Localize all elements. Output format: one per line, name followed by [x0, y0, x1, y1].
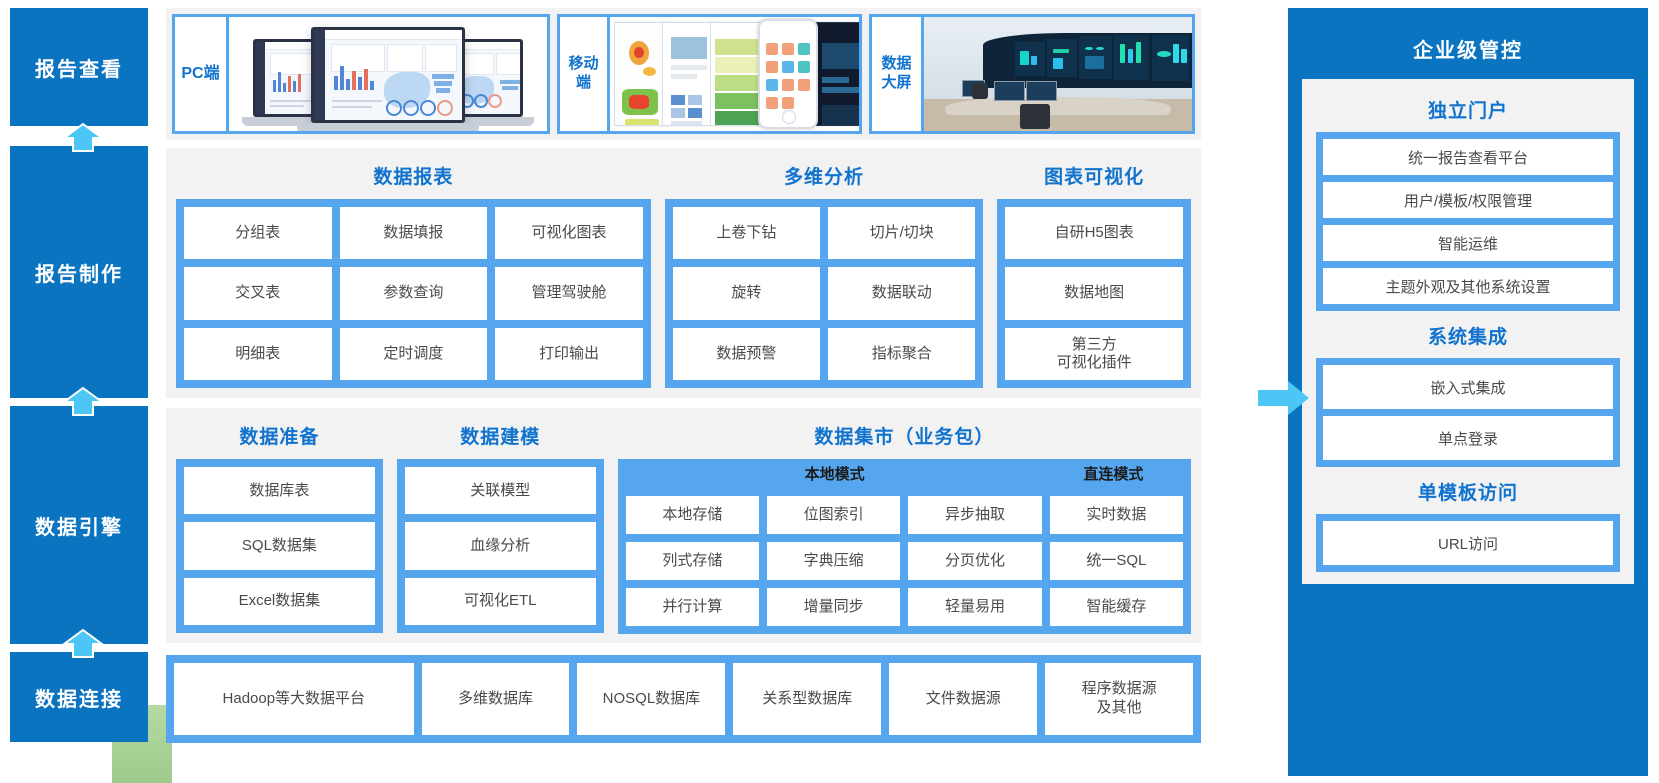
group-chart-visualization: 图表可视化 自研H5图表 数据地图 第三方 可视化插件 [997, 156, 1191, 388]
group-title: 图表可视化 [997, 162, 1191, 189]
group-title: 数据准备 [176, 422, 383, 449]
feature-cell[interactable]: 分组表 [184, 207, 332, 259]
group-title: 多维分析 [665, 162, 984, 189]
mart-column: 本地存储 列式存储 并行计算 [626, 496, 759, 626]
feature-cell[interactable]: 智能缓存 [1050, 588, 1183, 626]
panel-title: 企业级管控 [1302, 8, 1634, 79]
connection-cell[interactable]: Hadoop等大数据平台 [174, 663, 414, 735]
connection-cell[interactable]: NOSQL数据库 [577, 663, 725, 735]
feature-cell[interactable]: SQL数据集 [184, 522, 375, 569]
group-single-template-access: 单模板访问 URL访问 [1316, 467, 1620, 572]
feature-cell[interactable]: 交叉表 [184, 267, 332, 319]
group-multidim-analysis: 多维分析 上卷下钻 切片/切块 旋转 数据联动 数据预警 指标聚合 [665, 156, 984, 388]
pc-dashboard-illustration [229, 17, 547, 131]
cell-row: 数据地图 [1005, 267, 1183, 319]
stage-column: 报告查看 报告制作 数据引擎 数据连接 [10, 0, 148, 783]
cell-row: 上卷下钻 切片/切块 [673, 207, 976, 259]
feature-cell[interactable]: 管理驾驶舱 [495, 267, 643, 319]
group-data-modeling: 数据建模 关联模型 血缘分析 可视化ETL [397, 416, 604, 633]
channel-big-screen[interactable]: 数据 大屏 [869, 14, 1195, 134]
feature-cell[interactable]: 统一SQL [1050, 542, 1183, 580]
feature-cell[interactable]: 可视化ETL [405, 578, 596, 625]
control-room-illustration [924, 17, 1192, 131]
feature-cell[interactable]: 字典压缩 [767, 542, 900, 580]
stage-report-view[interactable]: 报告查看 [10, 8, 148, 126]
group-body: 本地模式 直连模式 本地存储 列式存储 并行计算 位图索引 字典压缩 增量同步 [618, 459, 1191, 634]
feature-cell[interactable]: 数据填报 [340, 207, 488, 259]
mart-body: 本地存储 列式存储 并行计算 位图索引 字典压缩 增量同步 异步抽取 分页优化 [626, 496, 1183, 626]
panel-inner: 独立门户 统一报告查看平台 用户/模板/权限管理 智能运维 主题外观及其他系统设… [1302, 79, 1634, 584]
channel-row: PC端 [166, 8, 1201, 140]
mart-mode-direct: 直连模式 [1044, 463, 1183, 484]
channel-label-pc: PC端 [175, 17, 229, 131]
stage-label: 数据连接 [35, 683, 123, 712]
mobile-screens-illustration [610, 17, 859, 131]
feature-cell[interactable]: 主题外观及其他系统设置 [1323, 268, 1613, 304]
stage-report-make[interactable]: 报告制作 [10, 146, 148, 398]
feature-cell[interactable]: 旋转 [673, 267, 820, 319]
cell-row: 明细表 定时调度 打印输出 [184, 328, 643, 380]
stage-label: 数据引擎 [35, 511, 123, 540]
feature-cell[interactable]: 关联模型 [405, 467, 596, 514]
connection-cell[interactable]: 多维数据库 [422, 663, 570, 735]
group-title: 数据报表 [176, 162, 651, 189]
cell-row: 交叉表 参数查询 管理驾驶舱 [184, 267, 643, 319]
mart-column: 位图索引 字典压缩 增量同步 [767, 496, 900, 626]
channel-pc[interactable]: PC端 [172, 14, 550, 134]
cell-row: SQL数据集 [184, 522, 375, 569]
feature-cell[interactable]: 数据地图 [1005, 267, 1183, 319]
cell-row: 数据库表 [184, 467, 375, 514]
group-body: 数据库表 SQL数据集 Excel数据集 [176, 459, 383, 633]
cell-row: 第三方 可视化插件 [1005, 328, 1183, 380]
feature-cell[interactable]: 上卷下钻 [673, 207, 820, 259]
group-data-mart: 数据集市（业务包） 本地模式 直连模式 本地存储 列式存储 并行计算 位图索引 [618, 416, 1191, 633]
up-arrow-icon-3 [62, 628, 104, 658]
group-data-preparation: 数据准备 数据库表 SQL数据集 Excel数据集 [176, 416, 383, 633]
group-body: 上卷下钻 切片/切块 旋转 数据联动 数据预警 指标聚合 [665, 199, 984, 388]
group-system-integration: 系统集成 嵌入式集成 单点登录 [1316, 311, 1620, 467]
report-production-row: 数据报表 分组表 数据填报 可视化图表 交叉表 参数查询 管理驾驶舱 明细表 定 [166, 148, 1201, 398]
cell-row: 可视化ETL [405, 578, 596, 625]
mart-column: 异步抽取 分页优化 轻量易用 [908, 496, 1041, 626]
feature-cell[interactable]: 数据联动 [828, 267, 975, 319]
stage-data-connection[interactable]: 数据连接 [10, 652, 148, 742]
feature-cell[interactable]: 并行计算 [626, 588, 759, 626]
group-title: 数据建模 [397, 422, 604, 449]
group-body: URL访问 [1316, 514, 1620, 572]
cell-row: 数据预警 指标聚合 [673, 328, 976, 380]
stage-label: 报告查看 [35, 53, 123, 82]
feature-cell[interactable]: 智能运维 [1323, 225, 1613, 261]
data-engine-row: 数据准备 数据库表 SQL数据集 Excel数据集 数据建模 [166, 408, 1201, 643]
mart-column: 实时数据 统一SQL 智能缓存 [1050, 496, 1183, 626]
group-title: 独立门户 [1316, 85, 1620, 132]
mart-mode-local: 本地模式 [626, 463, 1044, 484]
cell-row: 分组表 数据填报 可视化图表 [184, 207, 643, 259]
cell-row: Excel数据集 [184, 578, 375, 625]
group-title: 单模板访问 [1316, 467, 1620, 514]
channel-label-big-screen: 数据 大屏 [872, 17, 924, 131]
cell-row: 血缘分析 [405, 522, 596, 569]
feature-cell[interactable]: 定时调度 [340, 328, 488, 380]
connection-cell[interactable]: 关系型数据库 [733, 663, 881, 735]
feature-cell[interactable]: 参数查询 [340, 267, 488, 319]
feature-cell[interactable]: 用户/模板/权限管理 [1323, 182, 1613, 218]
up-arrow-icon-2 [62, 386, 104, 416]
feature-cell[interactable]: 切片/切块 [828, 207, 975, 259]
feature-cell[interactable]: 实时数据 [1050, 496, 1183, 534]
group-body: 自研H5图表 数据地图 第三方 可视化插件 [997, 199, 1191, 388]
feature-cell[interactable]: 列式存储 [626, 542, 759, 580]
connection-cell[interactable]: 程序数据源 及其他 [1045, 663, 1193, 735]
feature-cell[interactable]: URL访问 [1323, 521, 1613, 565]
feature-cell[interactable]: 嵌入式集成 [1323, 365, 1613, 409]
mart-mode-headers: 本地模式 直连模式 [626, 463, 1183, 488]
cell-row: 旋转 数据联动 [673, 267, 976, 319]
feature-cell[interactable]: 本地存储 [626, 496, 759, 534]
group-title: 数据集市（业务包） [618, 422, 1191, 449]
feature-cell[interactable]: 分页优化 [908, 542, 1041, 580]
feature-cell[interactable]: 增量同步 [767, 588, 900, 626]
feature-cell[interactable]: 可视化图表 [495, 207, 643, 259]
channel-mobile[interactable]: 移动 端 [557, 14, 862, 134]
group-body: 嵌入式集成 单点登录 [1316, 358, 1620, 467]
feature-cell[interactable]: 自研H5图表 [1005, 207, 1183, 259]
feature-cell[interactable]: Excel数据集 [184, 578, 375, 625]
right-arrow-icon [1258, 380, 1310, 416]
feature-cell[interactable]: 第三方 可视化插件 [1005, 328, 1183, 380]
feature-cell[interactable]: 统一报告查看平台 [1323, 139, 1613, 175]
data-connection-row: Hadoop等大数据平台 多维数据库 NOSQL数据库 关系型数据库 文件数据源… [166, 655, 1201, 743]
group-body: 分组表 数据填报 可视化图表 交叉表 参数查询 管理驾驶舱 明细表 定时调度 打… [176, 199, 651, 388]
group-independent-portal: 独立门户 统一报告查看平台 用户/模板/权限管理 智能运维 主题外观及其他系统设… [1316, 85, 1620, 311]
group-data-report: 数据报表 分组表 数据填报 可视化图表 交叉表 参数查询 管理驾驶舱 明细表 定 [176, 156, 651, 388]
enterprise-control-panel: 企业级管控 独立门户 统一报告查看平台 用户/模板/权限管理 智能运维 主题外观… [1288, 8, 1648, 776]
up-arrow-icon-1 [62, 122, 104, 152]
feature-cell[interactable]: 指标聚合 [828, 328, 975, 380]
feature-cell[interactable]: 单点登录 [1323, 416, 1613, 460]
channel-label-mobile: 移动 端 [560, 17, 610, 131]
stage-label: 报告制作 [35, 258, 123, 287]
feature-cell[interactable]: 位图索引 [767, 496, 900, 534]
feature-cell[interactable]: 血缘分析 [405, 522, 596, 569]
feature-cell[interactable]: 数据预警 [673, 328, 820, 380]
feature-cell[interactable]: 明细表 [184, 328, 332, 380]
group-title: 系统集成 [1316, 311, 1620, 358]
feature-cell[interactable]: 轻量易用 [908, 588, 1041, 626]
feature-cell[interactable]: 数据库表 [184, 467, 375, 514]
stage-data-engine[interactable]: 数据引擎 [10, 406, 148, 644]
group-body: 统一报告查看平台 用户/模板/权限管理 智能运维 主题外观及其他系统设置 [1316, 132, 1620, 311]
main-column: PC端 [166, 0, 1206, 783]
feature-cell[interactable]: 打印输出 [495, 328, 643, 380]
feature-cell[interactable]: 异步抽取 [908, 496, 1041, 534]
group-body: 关联模型 血缘分析 可视化ETL [397, 459, 604, 633]
connection-cell[interactable]: 文件数据源 [889, 663, 1037, 735]
cell-row: 自研H5图表 [1005, 207, 1183, 259]
cell-row: 关联模型 [405, 467, 596, 514]
architecture-diagram: 报告查看 报告制作 数据引擎 数据连接 [0, 0, 1659, 783]
